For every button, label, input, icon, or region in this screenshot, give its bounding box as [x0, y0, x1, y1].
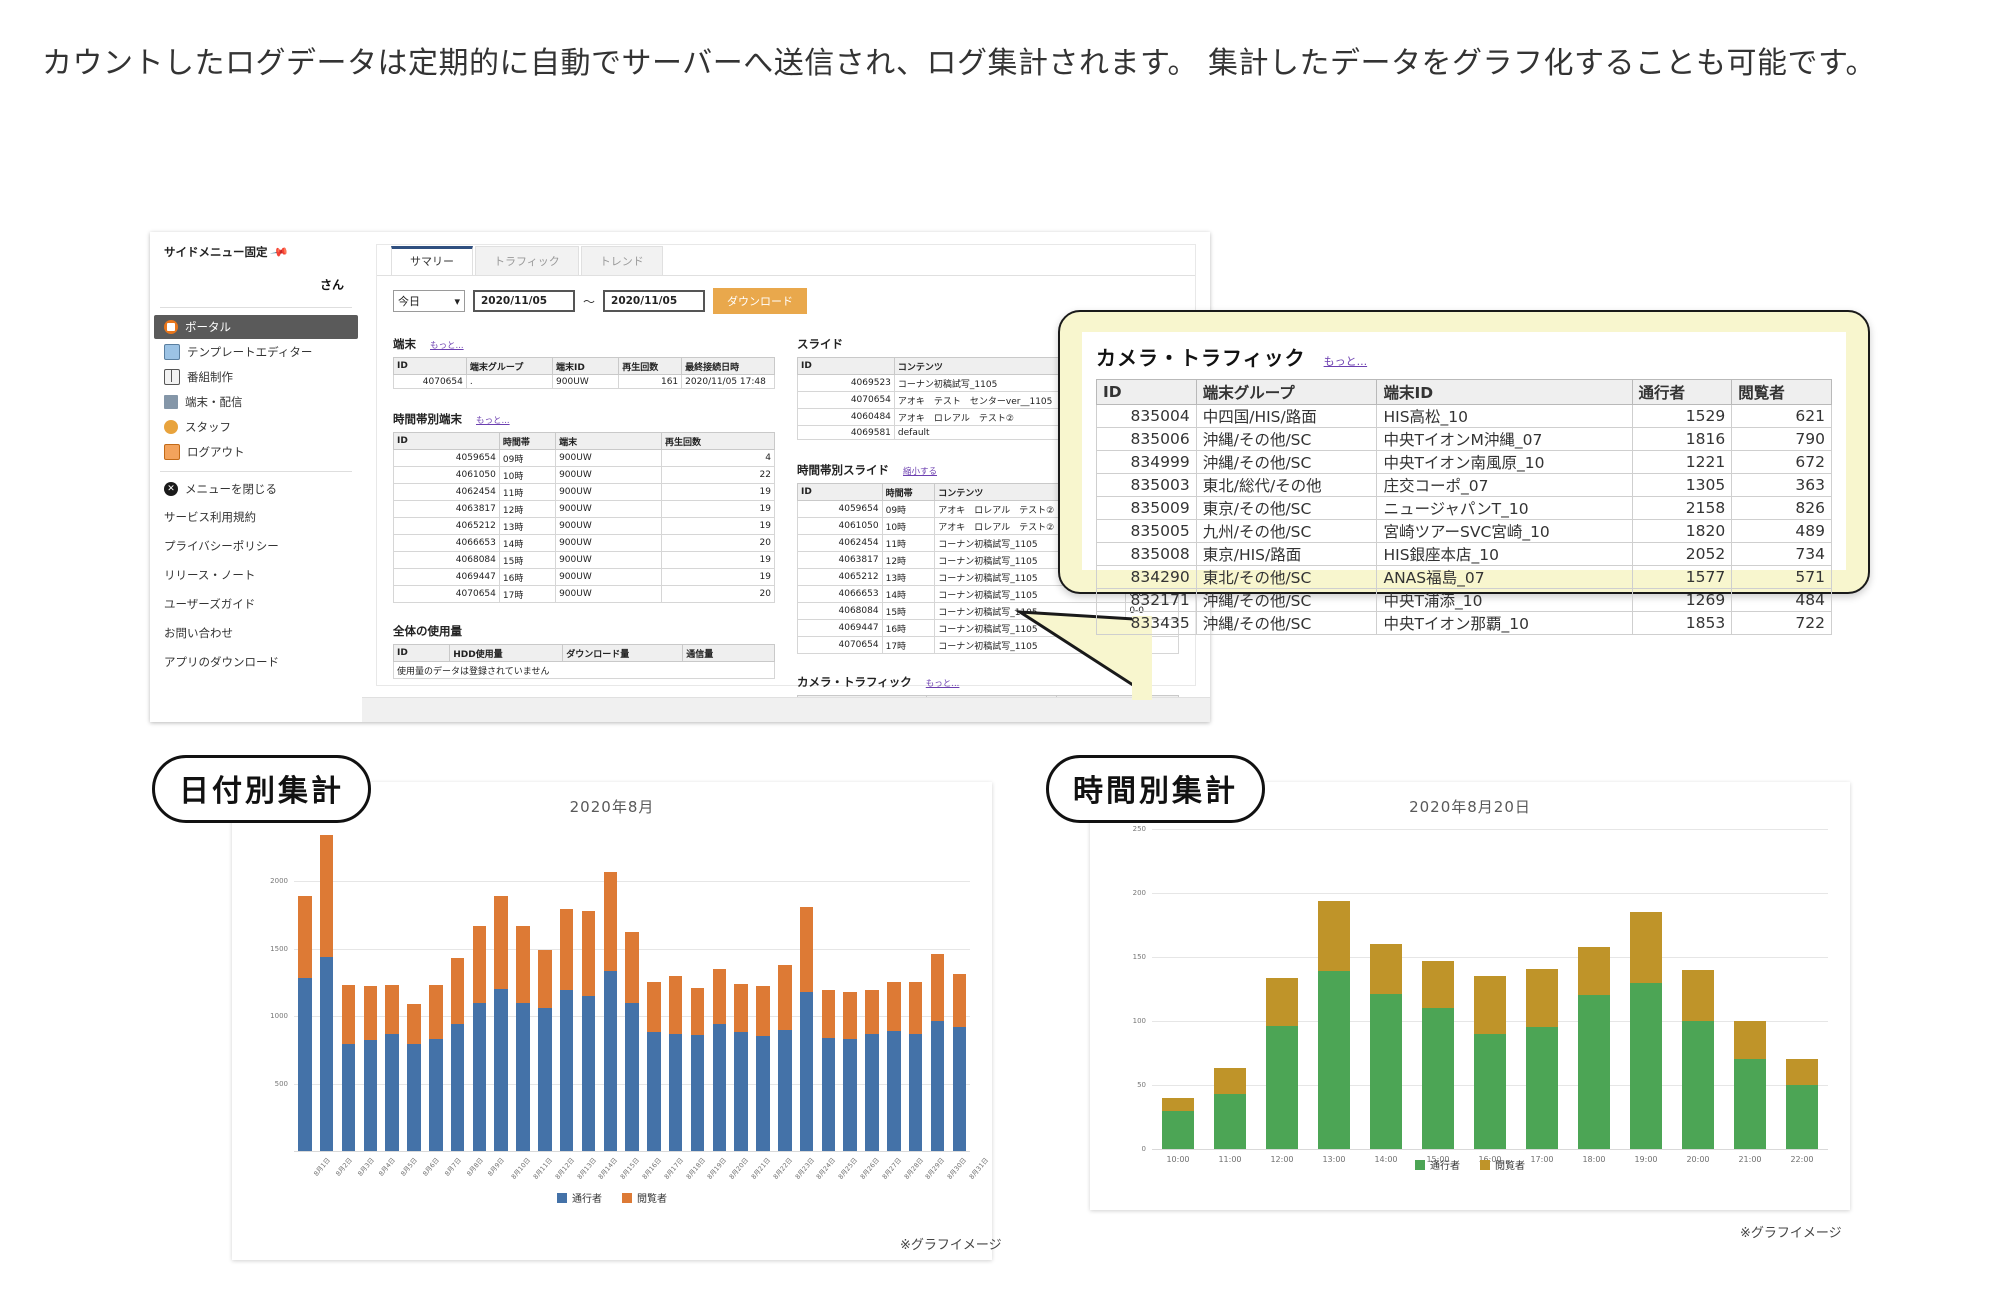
stacked-bar[interactable] — [756, 986, 770, 1151]
bar-segment-viewers — [516, 926, 530, 1003]
bar-slot — [599, 872, 621, 1151]
bar-segment-passers — [342, 1044, 356, 1151]
cell-4: 672 — [1732, 451, 1832, 474]
table-row[interactable]: 406808415時900UW19 — [394, 552, 775, 569]
bar-slot — [1308, 901, 1360, 1149]
stacked-bar[interactable] — [1370, 944, 1402, 1149]
bar-segment-passers — [647, 1032, 661, 1151]
staff-icon — [164, 420, 178, 434]
table-row[interactable]: 406521213時900UW19 — [394, 518, 775, 535]
stacked-bar[interactable] — [451, 958, 465, 1151]
x-axis-tick-label: 8月3日 — [354, 1155, 375, 1178]
table-row[interactable]: 406381712時900UW19 — [394, 501, 775, 518]
bar-segment-passers — [1422, 1008, 1454, 1149]
sidebar-link-terms[interactable]: サービス利用規約 — [150, 502, 362, 531]
sidebar-pin[interactable]: サイドメニュー固定 📌 — [150, 232, 362, 264]
cell-0: 4059654 — [798, 501, 883, 518]
table-row[interactable]: 835008東京/HIS/路面HIS銀座本店_102052734 — [1097, 543, 1832, 566]
x-axis-tick-label: 8月12日 — [552, 1155, 576, 1181]
cell-3: 22 — [661, 467, 774, 484]
bar-segment-passers — [625, 1003, 639, 1152]
cell-0: 4059654 — [394, 450, 500, 467]
stacked-bar[interactable] — [1630, 912, 1662, 1149]
bar-slot — [665, 976, 687, 1151]
table-row[interactable]: 407065417時900UW20 — [394, 586, 775, 603]
cell-3: 1577 — [1632, 566, 1732, 589]
cell-2: 900UW — [556, 450, 662, 467]
stacked-bar[interactable] — [647, 982, 661, 1151]
cell-3: 1816 — [1632, 428, 1732, 451]
stacked-bar[interactable] — [669, 976, 683, 1151]
col-0: ID — [394, 433, 500, 450]
stacked-bar[interactable] — [342, 985, 356, 1151]
sidebar-item-portal[interactable]: ポータル — [154, 315, 358, 339]
tab-trend[interactable]: トレンド — [581, 246, 663, 275]
bar-segment-passers — [538, 1008, 552, 1151]
bar-segment-passers — [604, 971, 618, 1151]
x-axis-tick-label: 8月7日 — [441, 1155, 462, 1178]
bar-segment-viewers — [1630, 912, 1662, 982]
bar-slot — [1672, 970, 1724, 1149]
col-0: ID — [1097, 380, 1197, 405]
legend-item[interactable]: 通行者 — [557, 1190, 602, 1205]
bar-segment-passers — [320, 957, 334, 1151]
bar-segment-passers — [843, 1039, 857, 1151]
stacked-bar[interactable] — [1578, 947, 1610, 1149]
stacked-bar[interactable] — [1474, 976, 1506, 1149]
cell-0: 4069447 — [798, 620, 883, 637]
stacked-bar[interactable] — [953, 974, 967, 1151]
stacked-bar[interactable] — [385, 985, 399, 1151]
sidebar-item-logout[interactable]: ログアウト — [154, 440, 358, 464]
stacked-bar[interactable] — [909, 982, 923, 1151]
sidebar-link-contact[interactable]: お問い合わせ — [150, 618, 362, 647]
table-row[interactable]: 406944716時900UW19 — [394, 569, 775, 586]
table-row[interactable]: 835006沖縄/その他/SC中央TイオンM沖縄_071816790 — [1097, 428, 1832, 451]
bar-segment-passers — [451, 1024, 465, 1151]
cell-1: 13時 — [882, 569, 935, 586]
more-link[interactable]: もっと... — [926, 677, 960, 689]
bar-slot — [381, 985, 403, 1151]
stacked-bar[interactable] — [822, 990, 836, 1151]
x-axis-tick-label: 8月20日 — [726, 1155, 750, 1181]
bar-slot — [294, 896, 316, 1151]
cell-1: 沖縄/その他/SC — [1196, 612, 1377, 635]
bar-slot — [1776, 1059, 1828, 1149]
bar-slot — [927, 954, 949, 1151]
bar-segment-viewers — [342, 985, 356, 1044]
daily-chart-card: 2020年8月 5001000150020008月1日8月2日8月3日8月4日8… — [232, 782, 992, 1260]
bar-segment-passers — [1214, 1094, 1246, 1149]
stacked-bar[interactable] — [473, 926, 487, 1151]
bar-segment-viewers — [953, 974, 967, 1027]
sidebar-item-device[interactable]: 端末・配信 — [154, 390, 358, 414]
cell-0: 834999 — [1097, 451, 1197, 474]
x-axis-tick-label: 8月11日 — [530, 1155, 554, 1181]
stacked-bar[interactable] — [1422, 961, 1454, 1149]
bar-segment-viewers — [385, 985, 399, 1034]
x-axis-tick-label: 8月16日 — [639, 1155, 663, 1181]
cell-3: 19 — [661, 501, 774, 518]
bar-segment-viewers — [1370, 944, 1402, 994]
cell-1: 09時 — [499, 450, 555, 467]
stacked-bar[interactable] — [931, 954, 945, 1151]
bar-slot — [338, 985, 360, 1151]
bar-segment-viewers — [1682, 970, 1714, 1021]
stacked-bar[interactable] — [887, 982, 901, 1151]
cell-1: 中四国/HIS/路面 — [1196, 405, 1377, 428]
y-axis-tick-label: 250 — [1116, 825, 1146, 833]
x-axis-tick-label: 8月30日 — [944, 1155, 968, 1181]
x-axis-tick-label: 8月24日 — [814, 1155, 838, 1181]
logout-icon — [164, 444, 180, 460]
sidebar-item-label: 端末・配信 — [185, 394, 243, 410]
bar-slot — [403, 1004, 425, 1151]
stacked-bar[interactable] — [516, 926, 530, 1151]
col-1: 時間帯 — [882, 484, 935, 501]
table-row[interactable]: 834999沖縄/その他/SC中央Tイオン南風原_101221672 — [1097, 451, 1832, 474]
stacked-bar[interactable] — [865, 990, 879, 1151]
cell-1: 東北/総代/その他 — [1196, 474, 1377, 497]
collapse-link[interactable]: 縮小する — [903, 465, 937, 477]
callout-content: カメラ・トラフィック もっと... ID端末グループ端末ID通行者閲覧者8350… — [1082, 332, 1846, 570]
cell-2: ANAS福島_07 — [1377, 566, 1632, 589]
cell-0: 835006 — [1097, 428, 1197, 451]
stacked-bar[interactable] — [691, 988, 705, 1151]
col-3: 通行者 — [1632, 380, 1732, 405]
sidebar-close-menu[interactable]: ✕ メニューを閉じる — [154, 477, 358, 501]
col-0: ID — [798, 484, 883, 501]
legend-item[interactable]: 通行者 — [1415, 1157, 1460, 1172]
x-axis-tick-label: 8月6日 — [420, 1155, 441, 1178]
cell-1: 17時 — [882, 637, 935, 654]
hourly-chart-plot: 05010015020025010:0011:0012:0013:0014:00… — [1090, 817, 1850, 1185]
bar-segment-viewers — [713, 969, 727, 1024]
y-axis-tick-label: 100 — [1116, 1017, 1146, 1025]
bar-segment-passers — [887, 1031, 901, 1151]
stacked-bar[interactable] — [1214, 1068, 1246, 1149]
cell-4: 734 — [1732, 543, 1832, 566]
terminal-hourly-table: ID時間帯端末再生回数405965409時900UW4406105010時900… — [393, 432, 775, 603]
section-header-terminal-hourly: 時間帯別端末 もっと... — [393, 411, 775, 427]
stacked-bar[interactable] — [1318, 901, 1350, 1149]
table-row[interactable]: 832171沖縄/その他/SC中央T浦添_101269484 — [1097, 589, 1832, 612]
y-axis-tick-label: 200 — [1116, 889, 1146, 897]
cell-2: 900UW — [556, 518, 662, 535]
x-axis-tick-label: 8月18日 — [683, 1155, 707, 1181]
cell-0: 835004 — [1097, 405, 1197, 428]
cell-2: 900UW — [556, 484, 662, 501]
bar-segment-passers — [669, 1034, 683, 1151]
cell-3: 2158 — [1632, 497, 1732, 520]
more-link[interactable]: もっと... — [430, 339, 464, 351]
stacked-bar[interactable] — [364, 986, 378, 1151]
cell-0: 4069523 — [798, 375, 895, 392]
cell-3: 1820 — [1632, 520, 1732, 543]
stacked-bar[interactable] — [778, 965, 792, 1151]
bar-segment-viewers — [669, 976, 683, 1034]
stacked-bar[interactable] — [734, 984, 748, 1151]
cell-1: 11時 — [882, 535, 935, 552]
bar-segment-passers — [1318, 971, 1350, 1149]
section-title: スライド — [797, 336, 843, 352]
bar-segment-viewers — [625, 932, 639, 1002]
cell-0: 4063817 — [798, 552, 883, 569]
stacked-bar[interactable] — [298, 896, 312, 1151]
bar-segment-viewers — [1266, 978, 1298, 1027]
bar-segment-passers — [1266, 1026, 1298, 1149]
stacked-bar[interactable] — [1162, 1098, 1194, 1149]
bar-segment-viewers — [843, 992, 857, 1039]
sidebar: サイドメニュー固定 📌 さん ポータル テンプレートエディター 番組制作 端末・… — [150, 232, 363, 722]
daily-chart-legend: 通行者閲覧者 — [232, 1190, 992, 1205]
legend-item[interactable]: 閲覧者 — [622, 1190, 667, 1205]
legend-item[interactable]: 閲覧者 — [1480, 1157, 1525, 1172]
bar-slot — [730, 984, 752, 1151]
callout-title: カメラ・トラフィック — [1096, 342, 1306, 371]
stacked-bar[interactable] — [407, 1004, 421, 1151]
bar-slot — [1152, 1098, 1204, 1149]
cell-1: 09時 — [882, 501, 935, 518]
x-axis-tick-label: 8月22日 — [770, 1155, 794, 1181]
bar-segment-viewers — [364, 986, 378, 1040]
sidebar-link-release-notes[interactable]: リリース・ノート — [150, 560, 362, 589]
cell-0: 835009 — [1097, 497, 1197, 520]
cell-0: 835008 — [1097, 543, 1197, 566]
table-row[interactable]: 4070654 . 900UW 161 2020/11/05 17:48 — [394, 375, 775, 389]
sidebar-item-program[interactable]: 番組制作 — [154, 365, 358, 389]
stacked-bar[interactable] — [494, 896, 508, 1151]
cell-0: 4061050 — [394, 467, 500, 484]
y-axis-tick-label: 1000 — [258, 1012, 288, 1020]
bar-segment-viewers — [800, 907, 814, 992]
legend-label: 閲覧者 — [637, 1190, 667, 1205]
stacked-bar[interactable] — [713, 969, 727, 1151]
bar-slot — [883, 982, 905, 1151]
bar-slot — [1620, 912, 1672, 1149]
more-link[interactable]: もっと... — [476, 414, 510, 426]
cell-0: 4065212 — [394, 518, 500, 535]
bar-segment-viewers — [909, 982, 923, 1033]
sidebar-item-template-editor[interactable]: テンプレートエディター — [154, 340, 358, 364]
bar-segment-passers — [713, 1024, 727, 1151]
bar-slot — [643, 982, 665, 1151]
x-axis-tick-label: 8月26日 — [857, 1155, 881, 1181]
stacked-bar[interactable] — [604, 872, 618, 1151]
pin-icon: 📌 — [269, 242, 289, 262]
cell-1: 沖縄/その他/SC — [1196, 428, 1377, 451]
bar-segment-passers — [298, 978, 312, 1151]
sidebar-link-app-download[interactable]: アプリのダウンロード — [150, 647, 362, 676]
bar-segment-passers — [865, 1034, 879, 1151]
bar-segment-viewers — [320, 835, 334, 957]
cell-1: 東北/その他/SC — [1196, 566, 1377, 589]
hourly-chart-legend: 通行者閲覧者 — [1090, 1157, 1850, 1172]
cell-2: 900UW — [556, 586, 662, 603]
cell-2: 中央Tイオン那覇_10 — [1377, 612, 1632, 635]
download-button[interactable]: ダウンロード — [713, 288, 807, 314]
bar-segment-passers — [822, 1038, 836, 1151]
chevron-down-icon: ▾ — [454, 295, 460, 308]
cell-2: 900UW — [556, 569, 662, 586]
col-1: 端末グループ — [1196, 380, 1377, 405]
stacked-bar[interactable] — [625, 932, 639, 1151]
cell-3: 19 — [661, 484, 774, 501]
cell-0: 835003 — [1097, 474, 1197, 497]
col-last-connect: 最終接続日時 — [682, 358, 775, 375]
bar-segment-passers — [1630, 983, 1662, 1149]
cell-4: 621 — [1732, 405, 1832, 428]
bar-slot — [861, 990, 883, 1151]
bar-segment-passers — [429, 1039, 443, 1151]
bar-slot — [1516, 969, 1568, 1149]
cell-4: 363 — [1732, 474, 1832, 497]
cell-0: 4063817 — [394, 501, 500, 518]
table-row[interactable]: 834290東北/その他/SCANAS福島_071577571 — [1097, 566, 1832, 589]
cell-2: 900UW — [556, 501, 662, 518]
bar-segment-passers — [1474, 1034, 1506, 1149]
stacked-bar[interactable] — [1786, 1059, 1818, 1149]
stacked-bar[interactable] — [1734, 1021, 1766, 1149]
col-hdd: HDD使用量 — [450, 645, 563, 662]
cell-1: 12時 — [882, 552, 935, 569]
x-axis-tick-label: 8月25日 — [835, 1155, 859, 1181]
cell-1: 15時 — [499, 552, 555, 569]
cell-0: 4069581 — [798, 426, 895, 440]
camera-traffic-table: ID端末グループ端末ID通行者閲覧者835004中四国/HIS/路面HIS高松_… — [1096, 379, 1832, 635]
sidebar-link-users-guide[interactable]: ユーザーズガイド — [150, 589, 362, 618]
bar-segment-passers — [800, 992, 814, 1151]
bar-segment-viewers — [691, 988, 705, 1035]
table-row[interactable]: 406245411時900UW19 — [394, 484, 775, 501]
bar-segment-viewers — [822, 990, 836, 1037]
table-empty-row: 使用量のデータは登録されていません — [394, 662, 775, 679]
bar-slot — [708, 969, 730, 1151]
stacked-bar[interactable] — [320, 835, 334, 1151]
bar-segment-viewers — [1214, 1068, 1246, 1094]
bar-slot — [621, 932, 643, 1151]
cell-0: 4065212 — [798, 569, 883, 586]
table-row[interactable]: 833435沖縄/その他/SC中央Tイオン那覇_101853722 — [1097, 612, 1832, 635]
cell-group: . — [466, 375, 552, 389]
section-header-usage: 全体の使用量 — [393, 623, 775, 639]
cell-0: 4060484 — [798, 409, 895, 426]
bar-slot — [948, 974, 970, 1151]
bar-segment-passers — [734, 1032, 748, 1151]
bar-segment-viewers — [1474, 976, 1506, 1034]
bar-segment-passers — [1162, 1111, 1194, 1149]
callout-header: カメラ・トラフィック もっと... — [1096, 342, 1832, 371]
table-row[interactable]: 835003東北/総代/その他庄交コーポ_071305363 — [1097, 474, 1832, 497]
cell-0: 4070654 — [798, 392, 895, 409]
cell-3: 4 — [661, 450, 774, 467]
daily-chart-plot: 5001000150020008月1日8月2日8月3日8月4日8月5日8月6日8… — [232, 817, 992, 1217]
cell-last-connect: 2020/11/05 17:48 — [682, 375, 775, 389]
cell-1: 11時 — [499, 484, 555, 501]
bar-segment-passers — [778, 1030, 792, 1152]
stacked-bar[interactable] — [1682, 970, 1714, 1149]
sidebar-item-label: 番組制作 — [187, 369, 233, 385]
cell-4: 484 — [1732, 589, 1832, 612]
section-title: カメラ・トラフィック — [797, 674, 912, 690]
bar-segment-viewers — [1318, 901, 1350, 971]
x-axis-tick-label: 8月17日 — [661, 1155, 685, 1181]
bar-slot — [1724, 1021, 1776, 1149]
cell-1: 沖縄/その他/SC — [1196, 589, 1377, 612]
y-axis-tick-label: 0 — [1116, 1145, 1146, 1153]
table-row[interactable]: 406105010時900UW22 — [394, 467, 775, 484]
bar-segment-passers — [582, 996, 596, 1151]
cell-2: 900UW — [556, 467, 662, 484]
bar-slot — [425, 985, 447, 1151]
sidebar-links: ✕ メニューを閉じる サービス利用規約 プライバシーポリシー リリース・ノート … — [150, 472, 362, 676]
tab-summary[interactable]: サマリー — [391, 246, 473, 275]
stacked-bar[interactable] — [800, 907, 814, 1151]
dashboard-tabs: サマリー トラフィック トレンド — [377, 245, 1195, 276]
table-row[interactable]: 405965409時900UW4 — [394, 450, 775, 467]
bar-segment-passers — [1526, 1027, 1558, 1149]
cell-id: 4070654 — [394, 375, 467, 389]
cell-0: 4062454 — [394, 484, 500, 501]
stacked-bar[interactable] — [582, 911, 596, 1151]
cell-3: 1529 — [1632, 405, 1732, 428]
stacked-bar[interactable] — [1266, 978, 1298, 1150]
cell-4: 489 — [1732, 520, 1832, 543]
col-4: 閲覧者 — [1732, 380, 1832, 405]
bar-segment-viewers — [1734, 1021, 1766, 1059]
date-to-input[interactable]: 2020/11/05 — [603, 290, 705, 312]
table-row[interactable]: 835004中四国/HIS/路面HIS高松_101529621 — [1097, 405, 1832, 428]
more-link[interactable]: もっと... — [1324, 353, 1368, 369]
x-axis-line — [294, 1151, 970, 1152]
bar-slot — [359, 986, 381, 1151]
graph-note-left: ※グラフイメージ — [900, 1234, 1002, 1253]
cell-2: HIS銀座本店_10 — [1377, 543, 1632, 566]
cell-3: 20 — [661, 586, 774, 603]
table-row[interactable]: 835005九州/その他/SC宮崎ツアーSVC宮崎_101820489 — [1097, 520, 1832, 543]
stacked-bar[interactable] — [843, 992, 857, 1151]
sidebar-item-staff[interactable]: スタッフ — [154, 415, 358, 439]
date-range-separator: ～ — [583, 293, 595, 310]
portal-icon — [164, 320, 178, 334]
bar-slot — [490, 896, 512, 1151]
bar-segment-passers — [516, 1003, 530, 1152]
y-axis-tick-label: 1500 — [258, 945, 288, 953]
legend-swatch — [1415, 1160, 1425, 1170]
table-row[interactable]: 406665314時900UW20 — [394, 535, 775, 552]
range-select[interactable]: 今日 ▾ — [393, 290, 465, 312]
x-axis-line — [1152, 1149, 1828, 1150]
stacked-bar[interactable] — [560, 909, 574, 1151]
bar-segment-passers — [1786, 1085, 1818, 1149]
bar-slot — [796, 907, 818, 1151]
tab-traffic[interactable]: トラフィック — [475, 246, 579, 275]
y-axis-tick-label: 2000 — [258, 877, 288, 885]
table-row[interactable]: 835009東京/その他/SCニュージャパンT_102158826 — [1097, 497, 1832, 520]
section-title: 全体の使用量 — [393, 623, 462, 639]
x-axis-tick-label: 8月8日 — [463, 1155, 484, 1178]
x-axis-tick-label: 8月2日 — [332, 1155, 353, 1178]
x-axis-tick-label: 8月15日 — [617, 1155, 641, 1181]
stacked-bar[interactable] — [429, 985, 443, 1151]
cell-4: 790 — [1732, 428, 1832, 451]
stacked-bar[interactable] — [538, 950, 552, 1151]
date-from-input[interactable]: 2020/11/05 — [473, 290, 575, 312]
bar-segment-passers — [1578, 995, 1610, 1149]
stacked-bar[interactable] — [1526, 969, 1558, 1149]
x-axis-tick-label: 8月31日 — [966, 1155, 990, 1181]
sidebar-link-privacy[interactable]: プライバシーポリシー — [150, 531, 362, 560]
